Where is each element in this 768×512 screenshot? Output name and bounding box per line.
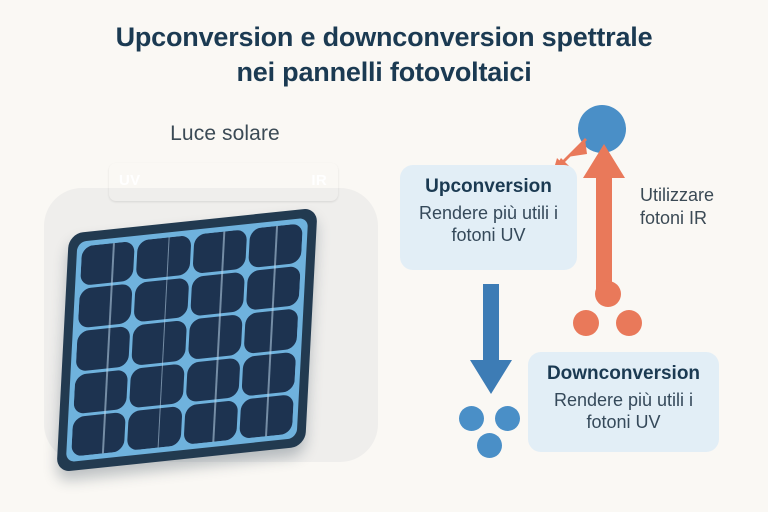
- panel-cell: [134, 278, 189, 323]
- downconversion-label-box: Downconversion Rendere più utili i foton…: [528, 352, 719, 452]
- ir-usage-note: Utilizzare fotoni IR: [640, 184, 764, 231]
- solar-panel-illustration: [56, 208, 317, 473]
- panel-cell: [183, 400, 238, 445]
- sunlight-label: Luce solare: [100, 122, 350, 146]
- uv-photon-dot: [495, 406, 520, 431]
- panel-cell: [76, 326, 131, 371]
- ir-photon-dot: [573, 310, 599, 336]
- panel-cell: [80, 241, 135, 286]
- upconversion-label-box: Upconversion Rendere più utili i fotoni …: [400, 165, 577, 270]
- panel-cell: [185, 357, 240, 402]
- downconversion-heading: Downconversion: [542, 362, 705, 386]
- panel-cell: [73, 369, 128, 414]
- panel-cell: [136, 235, 191, 280]
- panel-cell: [239, 394, 294, 439]
- page-title: Upconversion e downconversion spettrale …: [0, 20, 768, 89]
- ir-photon-dot: [616, 310, 642, 336]
- title-line-1: Upconversion e downconversion spettrale: [0, 20, 768, 55]
- panel-cell: [78, 284, 133, 329]
- spectrum-uv-label: UV: [119, 172, 140, 189]
- panel-cell: [132, 320, 187, 365]
- panel-cell: [241, 351, 296, 396]
- panel-cell: [127, 406, 182, 451]
- infographic-canvas: Upconversion e downconversion spettrale …: [0, 0, 768, 512]
- uv-photon-dot: [459, 406, 484, 431]
- ir-note-line-2: fotoni IR: [640, 207, 764, 230]
- panel-cell: [248, 223, 303, 268]
- spectrum-bar: UV IR: [109, 163, 338, 201]
- ir-note-line-1: Utilizzare: [640, 184, 764, 207]
- uv-photon-dot: [477, 433, 502, 458]
- panel-cell-grid: [71, 223, 303, 457]
- panel-cell: [187, 314, 242, 359]
- panel-cell: [192, 229, 247, 274]
- panel-cell: [129, 363, 184, 408]
- downconversion-arrow-icon: [470, 284, 512, 394]
- upconversion-arrow-icon: [583, 144, 625, 294]
- panel-cell: [190, 272, 245, 317]
- panel-cell: [71, 412, 126, 457]
- panel-cell: [243, 309, 298, 354]
- panel-cell: [246, 266, 301, 311]
- upconversion-body: Rendere più utili i fotoni UV: [414, 202, 563, 247]
- upconversion-heading: Upconversion: [414, 175, 563, 199]
- ir-photon-dot: [595, 281, 621, 307]
- spectrum-ir-label: IR: [311, 172, 327, 189]
- title-line-2: nei pannelli fotovoltaici: [0, 55, 768, 90]
- downconversion-body: Rendere più utili i fotoni UV: [542, 389, 705, 434]
